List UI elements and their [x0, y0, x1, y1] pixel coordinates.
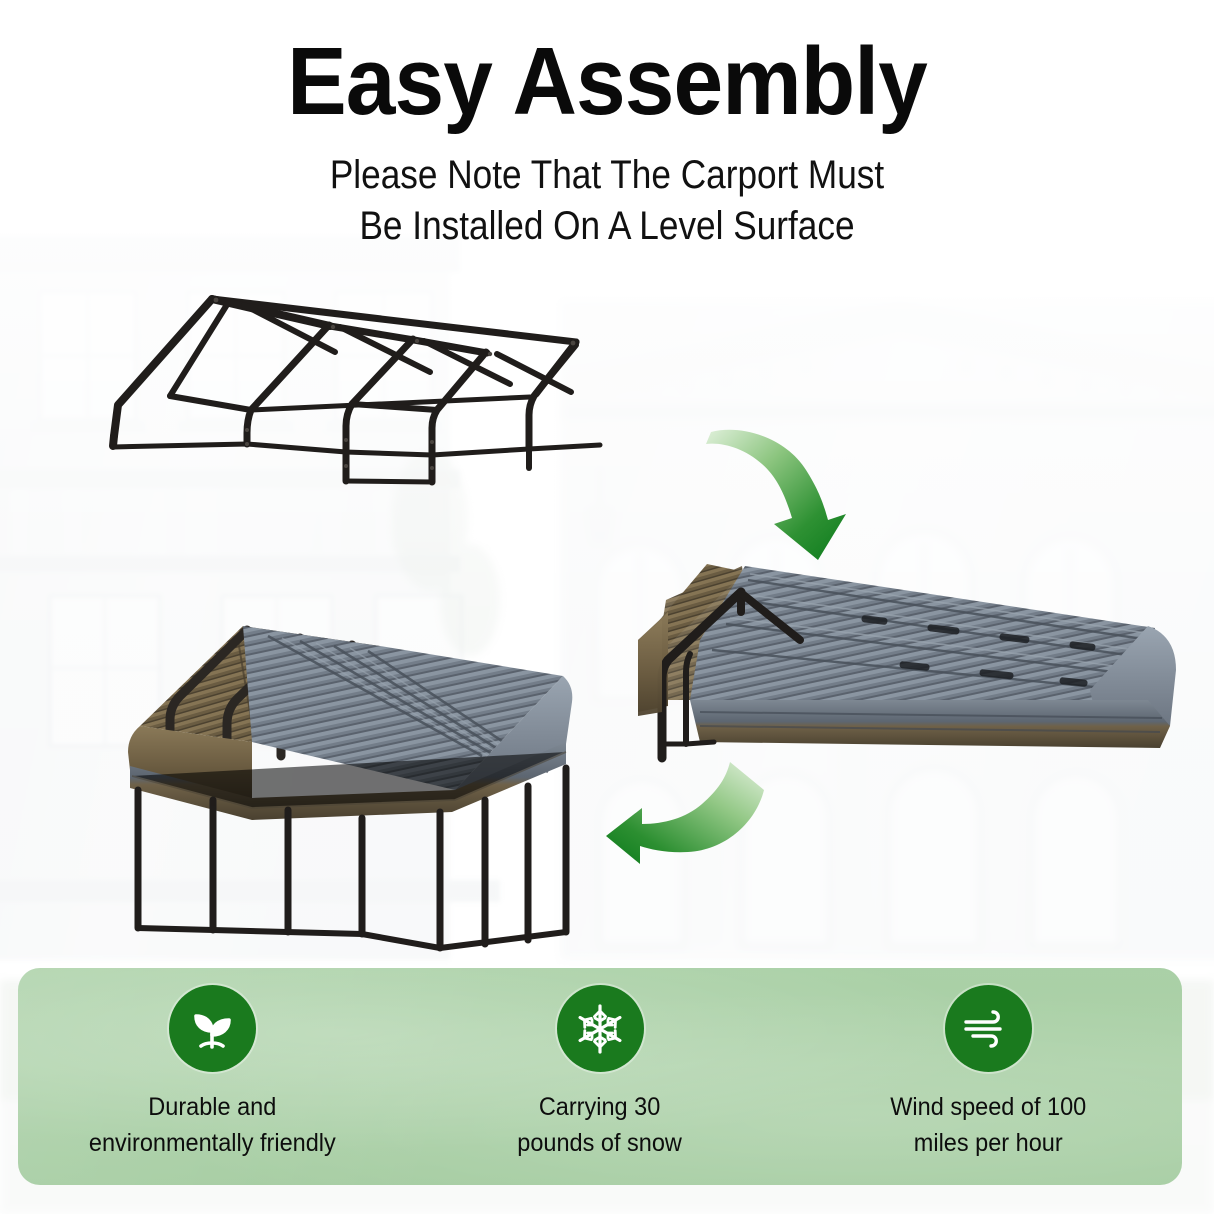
snowflake-icon [572, 1001, 628, 1057]
feature-label-1-line-1: Durable and [89, 1090, 336, 1126]
feature-panel: Durable and environmentally friendly [18, 968, 1182, 1185]
subtitle-line-1: Please Note That The Carport Must [73, 150, 1141, 201]
feature-label-1: Durable and environmentally friendly [89, 1090, 336, 1161]
feature-list: Durable and environmentally friendly [18, 968, 1182, 1185]
carport-with-roof-panels [638, 564, 1176, 758]
feature-item-wind-speed: Wind speed of 100 miles per hour [794, 985, 1182, 1161]
finished-carport [128, 626, 572, 948]
feature-label-2-line-2: pounds of snow [518, 1126, 683, 1162]
feature-icon-circle-3 [945, 985, 1032, 1072]
arrow-down-right [706, 430, 846, 560]
subtitle-line-2: Be Installed On A Level Surface [73, 201, 1141, 252]
feature-label-3-line-1: Wind speed of 100 [890, 1090, 1086, 1126]
sprout-icon [184, 1001, 240, 1057]
wind-icon [960, 1001, 1016, 1057]
feature-item-durable: Durable and environmentally friendly [18, 985, 406, 1161]
feature-label-3-line-2: miles per hour [890, 1126, 1086, 1162]
feature-label-2-line-1: Carrying 30 [518, 1090, 683, 1126]
feature-item-snow-load: Carrying 30 pounds of snow [406, 985, 794, 1161]
header: Easy Assembly Please Note That The Carpo… [0, 34, 1214, 252]
page-subtitle: Please Note That The Carport Must Be Ins… [73, 150, 1141, 252]
feature-label-3: Wind speed of 100 miles per hour [890, 1090, 1086, 1161]
page-title: Easy Assembly [42, 34, 1171, 130]
feature-label-1-line-2: environmentally friendly [89, 1126, 336, 1162]
feature-icon-circle-1 [169, 985, 256, 1072]
feature-icon-circle-2 [557, 985, 644, 1072]
carport-frame-skeleton [113, 299, 600, 482]
feature-label-2: Carrying 30 pounds of snow [518, 1090, 683, 1161]
arrow-down-left [606, 762, 764, 864]
